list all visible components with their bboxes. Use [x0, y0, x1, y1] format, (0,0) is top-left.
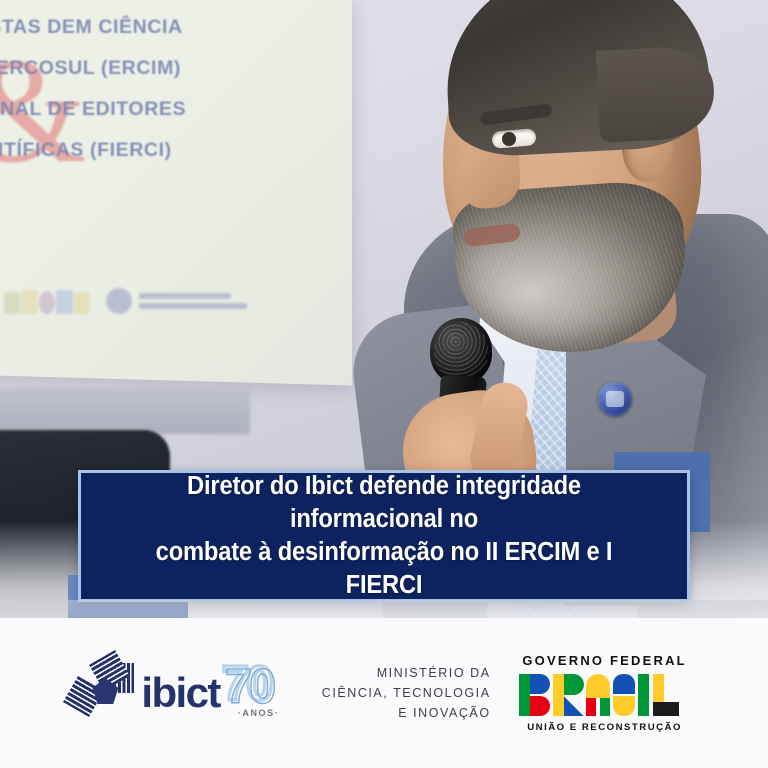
news-card: & DE REVISTAS DEM CIÊNCIA ÃO DO MERCOSUL… — [0, 0, 768, 768]
ministry-line-1: MINISTÉRIO DA — [322, 663, 491, 683]
headline-line-2: combate à desinformação no II ERCIM e I … — [156, 538, 613, 599]
anniversary-label: ·ANOS· — [238, 708, 280, 718]
brasil-wordmark-icon — [517, 672, 693, 718]
headline-text: Diretor do Ibict defende integridade inf… — [102, 470, 666, 603]
footer-logo-bar: ibict 70 70 ·ANOS· MINISTÉRIO DA CIÊNCIA… — [0, 618, 768, 768]
uniao-reconstrucao-label: UNIÃO E RECONSTRUÇÃO — [517, 722, 693, 733]
projection-line-1: DE REVISTAS DEM CIÊNCIA — [0, 8, 306, 46]
hair — [441, 0, 712, 159]
governo-federal-label: GOVERNO FEDERAL — [517, 653, 693, 668]
projection-screen: & DE REVISTAS DEM CIÊNCIA ÃO DO MERCOSUL… — [0, 0, 352, 385]
ministry-text-block: MINISTÉRIO DA CIÊNCIA, TECNOLOGIA E INOV… — [322, 663, 491, 724]
globe-icon — [106, 288, 132, 314]
projection-line-3: ERNACIONAL DE EDITORES — [0, 90, 306, 128]
projection-ciencia-informacao-logo — [106, 288, 247, 314]
projection-line-2: ÃO DO MERCOSUL (ERCIM) — [0, 49, 306, 87]
projection-line-4: AS UCIENTÍFICAS (FIERCI) — [0, 131, 306, 169]
lapel-pin-badge — [598, 382, 632, 416]
ministry-line-2: CIÊNCIA, TECNOLOGIA — [322, 683, 491, 703]
headline-line-1: Diretor do Ibict defende integridade inf… — [187, 472, 581, 533]
projection-text: DE REVISTAS DEM CIÊNCIA ÃO DO MERCOSUL (… — [0, 8, 306, 172]
projection-footer-logos — [0, 274, 346, 328]
desk-edge — [0, 388, 250, 434]
ibict-70-anos-mark: 70 70 ·ANOS· — [222, 662, 296, 724]
ibict-pinwheel-icon — [75, 662, 137, 724]
ibict-wordmark: ibict — [141, 672, 219, 714]
ibict-logo[interactable]: ibict 70 70 ·ANOS· — [75, 662, 295, 724]
pupil — [502, 132, 516, 146]
microphone-head — [430, 318, 492, 384]
anniversary-number-inner: 70 — [225, 663, 274, 712]
government-logo[interactable]: GOVERNO FEDERAL — [517, 653, 693, 733]
ministry-line-3: E INOVAÇÃO — [322, 703, 491, 723]
projection-brasil-logo-icon — [4, 284, 90, 318]
headline-banner: Diretor do Ibict defende integridade inf… — [78, 470, 690, 602]
